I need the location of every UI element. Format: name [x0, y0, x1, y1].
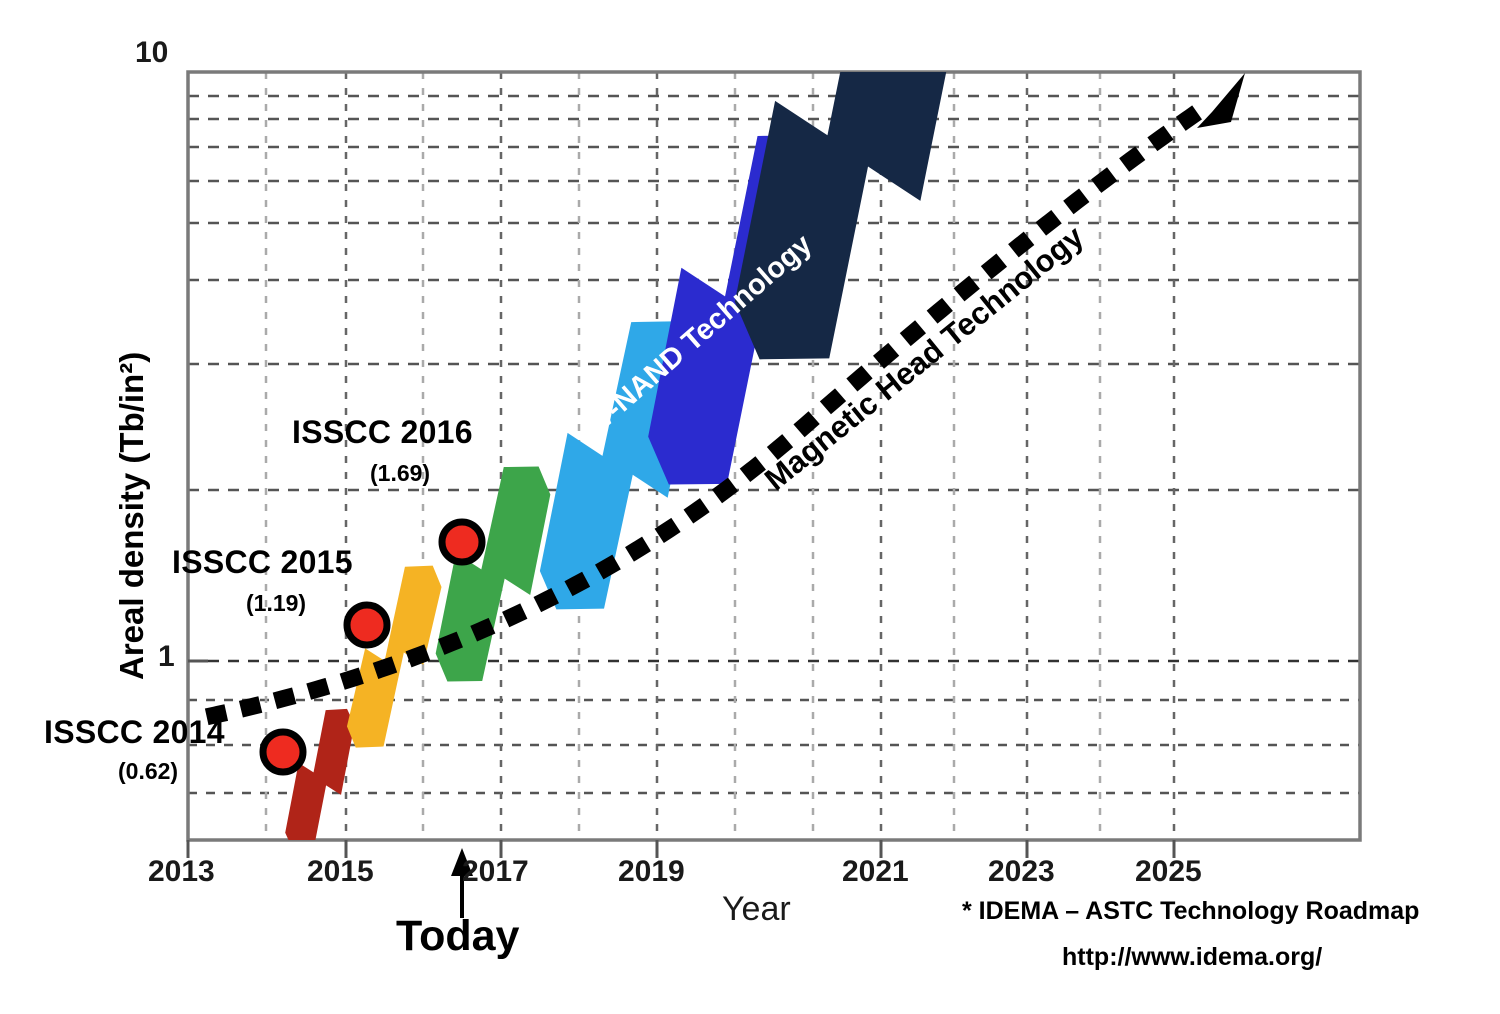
x-tick-2013: 2013 — [148, 855, 215, 889]
point-value-isscc-2014: (0.62) — [118, 758, 178, 785]
point-label-isscc-2014: ISSCC 2014 — [44, 714, 225, 751]
x-tick-2017: 2017 — [462, 855, 529, 889]
x-tick-2021: 2021 — [842, 855, 909, 889]
x-tick-2019: 2019 — [618, 855, 685, 889]
footnote-source: * IDEMA – ASTC Technology Roadmap — [962, 897, 1419, 926]
y-axis-title: Areal density (Tb/in²) — [113, 352, 151, 680]
x-tick-2025: 2025 — [1135, 855, 1202, 889]
point-label-isscc-2016: ISSCC 2016 — [292, 414, 473, 451]
x-tick-2015: 2015 — [307, 855, 374, 889]
today-label: Today — [396, 912, 519, 961]
x-tick-2023: 2023 — [988, 855, 1055, 889]
point-label-isscc-2015: ISSCC 2015 — [172, 544, 353, 581]
footnote-url: http://www.idema.org/ — [1062, 943, 1322, 972]
x-axis-title: Year — [722, 890, 791, 929]
y-tick-1: 1 — [158, 640, 175, 674]
point-value-isscc-2015: (1.19) — [246, 590, 306, 617]
chart-canvas — [0, 0, 1500, 1014]
y-tick-10: 10 — [135, 36, 168, 70]
areal-density-roadmap-chart: Areal density (Tb/in²) 10 1 2013 2015 20… — [0, 0, 1500, 1014]
point-value-isscc-2016: (1.69) — [370, 460, 430, 487]
